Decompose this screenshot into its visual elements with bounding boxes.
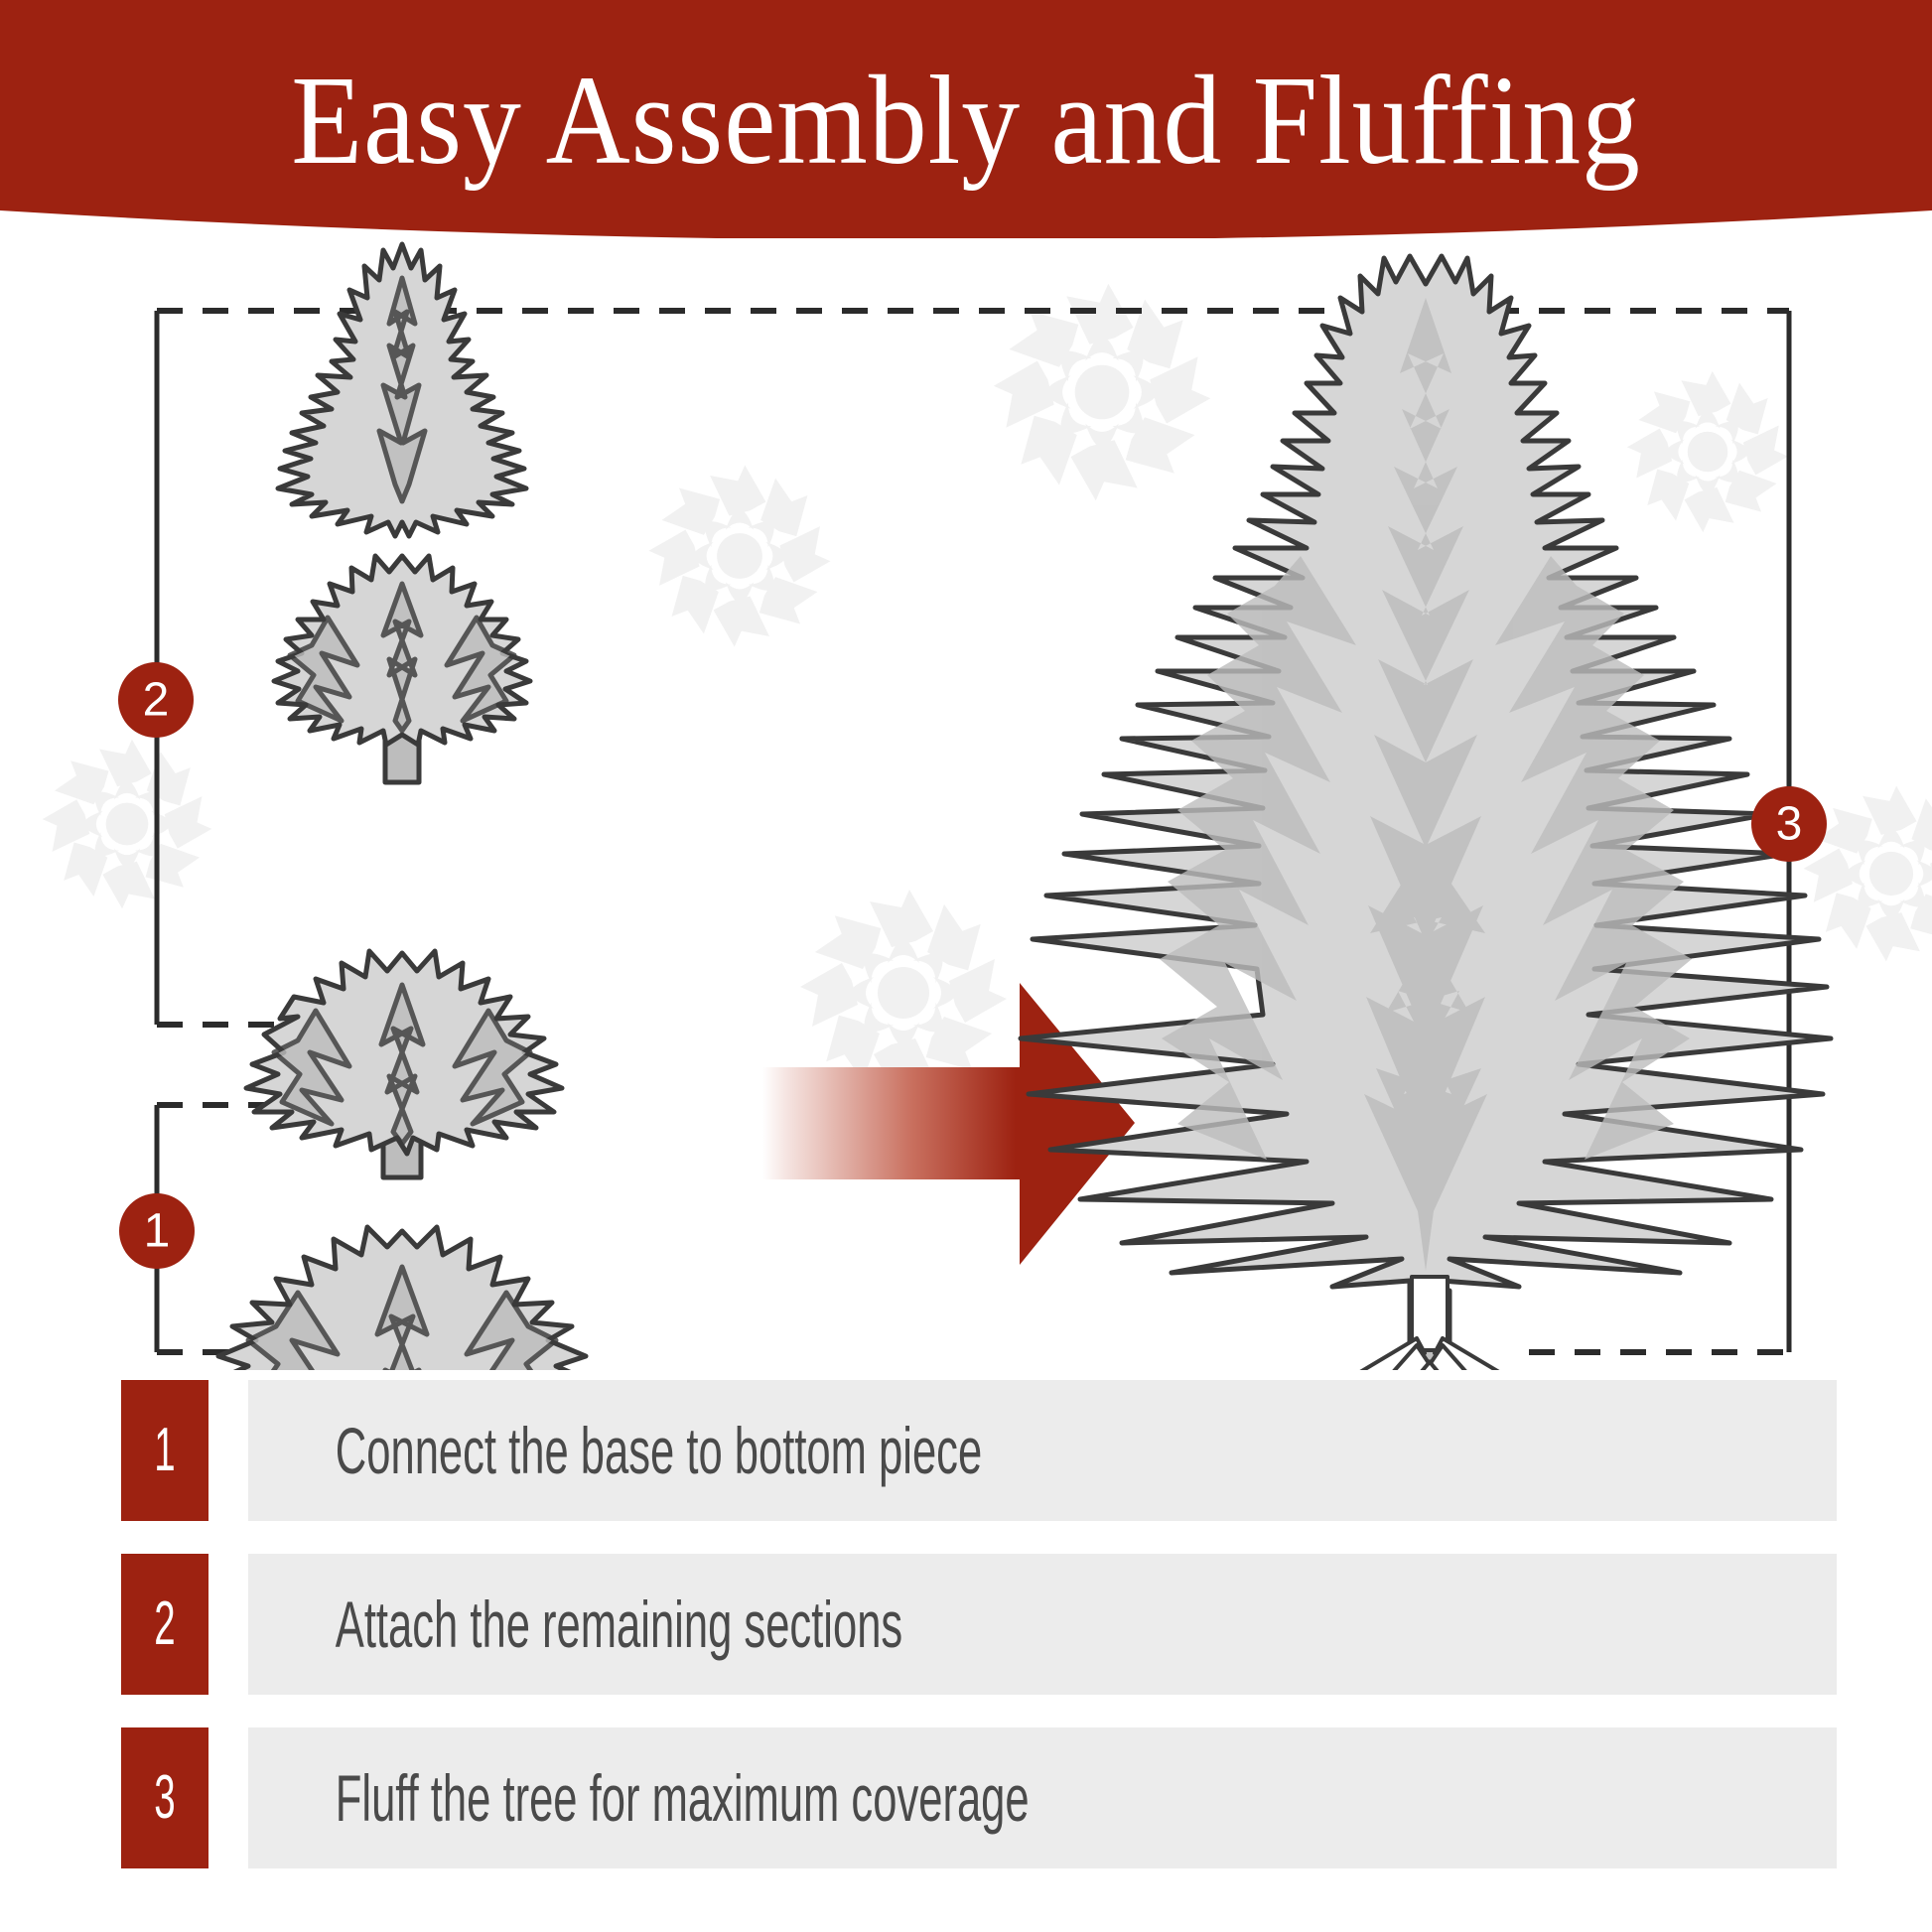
marker-2-label: 2 xyxy=(143,674,170,727)
tree-section-top xyxy=(278,244,526,536)
page-title: Easy Assembly and Fluffing xyxy=(77,46,1855,195)
step-text-bar: Attach the remaining sections xyxy=(248,1554,1837,1695)
tree-section-bottom xyxy=(212,1227,592,1370)
step-description: Fluff the tree for maximum coverage xyxy=(248,1763,1030,1833)
step-number-label: 1 xyxy=(154,1420,175,1481)
step-text-bar: Connect the base to bottom piece xyxy=(248,1380,1837,1521)
assembly-diagram: 2 1 3 xyxy=(0,238,1932,1370)
assembly-diagram-svg: 2 1 3 xyxy=(0,238,1932,1370)
step-number-label: 3 xyxy=(154,1767,175,1829)
tree-section-upper-middle xyxy=(274,556,530,782)
step-description: Connect the base to bottom piece xyxy=(248,1416,982,1485)
steps-list: 1 Connect the base to bottom piece 2 Att… xyxy=(0,1380,1932,1901)
marker-3[interactable]: 3 xyxy=(1751,786,1827,862)
snowflake-icon xyxy=(648,465,830,646)
step-number-badge: 1 xyxy=(121,1380,208,1521)
snowflake-icon xyxy=(43,740,212,909)
marker-2[interactable]: 2 xyxy=(118,662,194,738)
marker-1-label: 1 xyxy=(144,1205,171,1258)
tree-section-lower-middle xyxy=(246,951,562,1177)
snowflake-icon xyxy=(800,890,1007,1096)
step-number-label: 2 xyxy=(154,1593,175,1655)
step-row[interactable]: 3 Fluff the tree for maximum coverage xyxy=(0,1727,1932,1868)
step-description: Attach the remaining sections xyxy=(248,1589,902,1659)
step-row[interactable]: 1 Connect the base to bottom piece xyxy=(0,1380,1932,1521)
step-number-badge: 2 xyxy=(121,1554,208,1695)
snowflake-icon xyxy=(1627,371,1788,532)
snowflake-icon xyxy=(994,284,1210,500)
marker-3-label: 3 xyxy=(1776,798,1803,851)
marker-1[interactable]: 1 xyxy=(119,1193,195,1269)
step-text-bar: Fluff the tree for maximum coverage xyxy=(248,1727,1837,1868)
step-row[interactable]: 2 Attach the remaining sections xyxy=(0,1554,1932,1695)
step-number-badge: 3 xyxy=(121,1727,208,1868)
header-banner: Easy Assembly and Fluffing xyxy=(0,0,1932,238)
exploded-tree-parts xyxy=(212,244,592,1370)
